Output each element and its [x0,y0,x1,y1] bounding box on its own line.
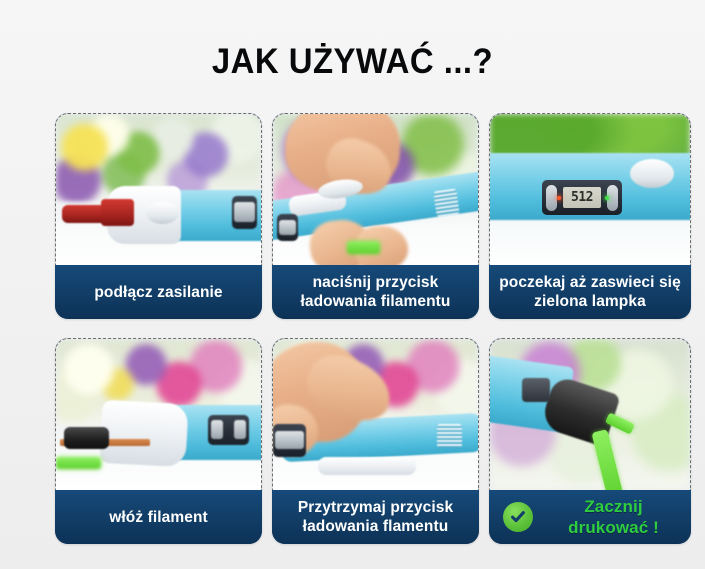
lcd-screen: 512 [563,187,601,208]
step-caption-6-label: Zacznij drukować ! [542,496,685,538]
step-caption-3: poczekaj aż zaswieci się zielona lampka [489,265,691,319]
red-led-indicator [557,196,561,200]
green-led-indicator [605,196,609,200]
lcd-left-button [546,185,557,211]
step-card-4[interactable]: włóż filament [55,338,262,544]
step-photo-1 [55,113,262,265]
step-caption-6: Zacznij drukować ! [489,490,691,544]
step-card-1[interactable]: podłącz zasilanie [55,113,262,319]
step-card-3[interactable]: 512 poczekaj aż zaswieci się zielona lam… [489,113,691,319]
step-card-6[interactable]: Zacznij drukować ! [489,338,691,544]
step-photo-6 [489,338,691,490]
step-caption-4: włóż filament [55,490,262,544]
steps-grid: podłącz zasilanie [55,113,683,544]
step-card-5[interactable]: Przytrzymaj przycisk ładowania flamentu [272,338,479,544]
step-caption-5: Przytrzymaj przycisk ładowania flamentu [272,490,479,544]
instructions-page: JAK UŻYWAĆ ...? [0,0,705,569]
check-circle-icon [503,502,533,532]
step-photo-2 [272,113,479,265]
step-card-2[interactable]: naciśnij przycisk ładowania filamentu [272,113,479,319]
step-caption-1: podłącz zasilanie [55,265,262,319]
page-title: JAK UŻYWAĆ ...? [21,41,684,83]
step-caption-2: naciśnij przycisk ładowania filamentu [272,265,479,319]
pen-lcd-module: 512 [542,180,622,215]
step-photo-4 [55,338,262,490]
step-photo-5 [272,338,479,490]
step-photo-3: 512 [489,113,691,265]
